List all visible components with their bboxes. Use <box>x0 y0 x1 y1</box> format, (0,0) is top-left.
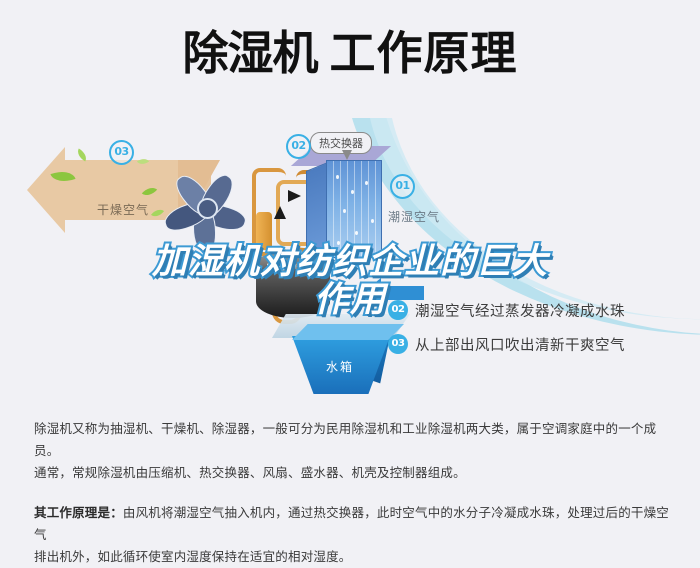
heat-exchanger <box>318 152 390 256</box>
body-copy: 除湿机又称为抽湿机、干燥机、除湿器，一般可分为民用除湿机和工业除湿机两大类，属于… <box>34 418 670 568</box>
legend-badge-02: 02 <box>388 300 408 320</box>
paragraph-1-line-2: 通常，常规除湿机由压缩机、热交换器、风扇、盛水器、机壳及控制器组成。 <box>34 462 670 484</box>
flow-arrow-right-icon <box>288 190 301 202</box>
legend-list: 02 潮湿空气经过蒸发器冷凝成水珠 03 从上部出风口吹出清新干爽空气 <box>388 293 625 361</box>
diagram-marker-02: 02 <box>286 134 311 159</box>
legend-text-03: 从上部出风口吹出清新干爽空气 <box>415 334 625 355</box>
paragraph-2-line-1: 其工作原理是：由风机将潮湿空气抽入机内，通过热交换器，此时空气中的水分子冷凝成水… <box>34 502 670 546</box>
heat-exchanger-callout: 热交换器 <box>310 132 372 154</box>
callout-pointer-icon <box>342 150 352 160</box>
compressor-label: 压缩机 <box>266 260 299 275</box>
legend-badge-03: 03 <box>388 334 408 354</box>
heat-exchanger-face <box>326 160 382 258</box>
water-tank-label: 水箱 <box>326 358 354 375</box>
page-title-part2: 工作原理 <box>330 26 518 80</box>
paragraph-2-lead: 其工作原理是： <box>34 505 123 520</box>
paragraph-1-line-1: 除湿机又称为抽湿机、干燥机、除湿器，一般可分为民用除湿机和工业除湿机两大类，属于… <box>34 418 670 462</box>
paragraph-2-line-2: 排出机外，如此循环使室内湿度保持在适宜的相对湿度。 <box>34 546 670 568</box>
diagram-marker-03: 03 <box>109 140 134 165</box>
flow-arrow-up-icon <box>274 206 286 219</box>
page-title: 除湿机工作原理 <box>0 28 700 78</box>
list-item: 02 潮湿空气经过蒸发器冷凝成水珠 <box>388 293 625 327</box>
fan-hub <box>197 198 218 219</box>
diagram-marker-01: 01 <box>390 174 415 199</box>
dry-air-label: 干燥空气 <box>97 201 149 218</box>
list-item: 03 从上部出风口吹出清新干爽空气 <box>388 327 625 361</box>
page-title-part1: 除湿机 <box>183 26 318 80</box>
paragraph-2-rest: 由风机将潮湿空气抽入机内，通过热交换器，此时空气中的水分子冷凝成水珠，处理过后的… <box>34 505 669 542</box>
legend-text-02: 潮湿空气经过蒸发器冷凝成水珠 <box>415 300 625 321</box>
infographic-page: 除湿机工作原理 干燥空气 <box>0 0 700 566</box>
coil-canister <box>256 212 272 250</box>
fan-icon <box>166 170 258 250</box>
humid-air-label: 潮湿空气 <box>388 208 440 225</box>
